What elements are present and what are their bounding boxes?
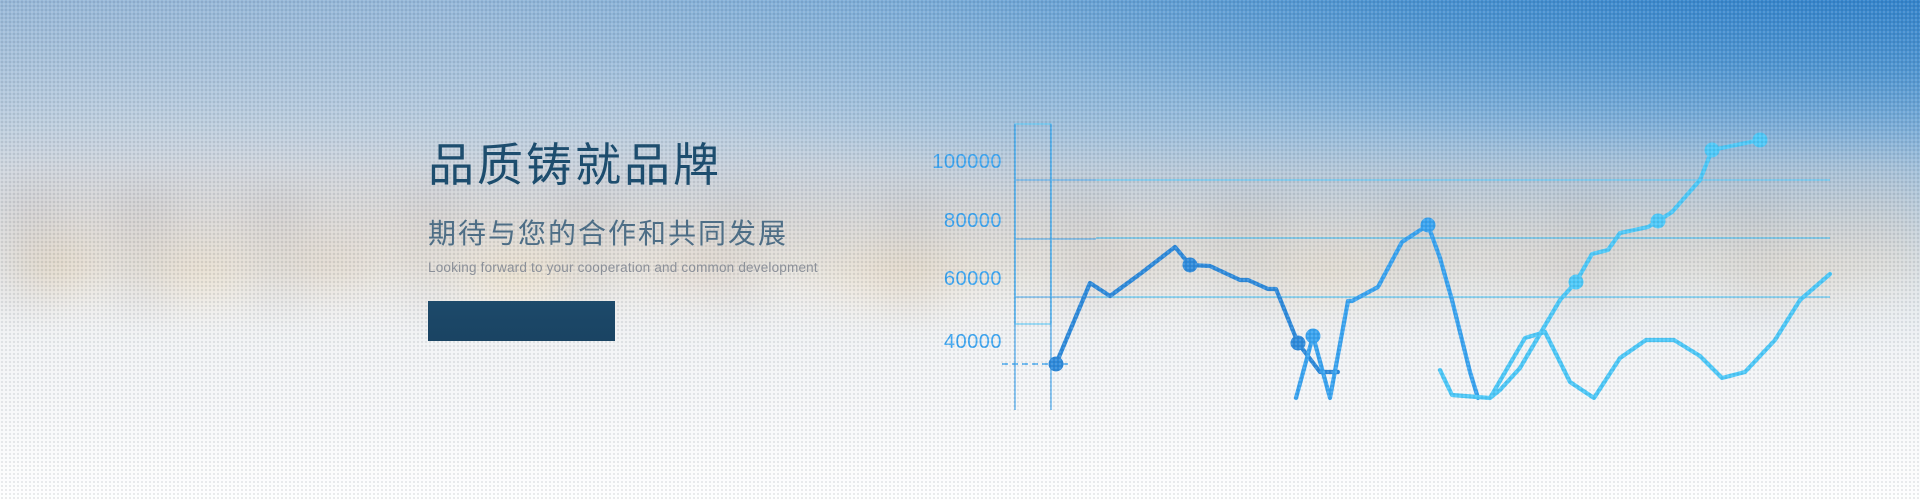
page-title: 品质铸就品牌 — [428, 142, 988, 188]
subtitle-zh: 期待与您的合作和共同发展 — [428, 220, 988, 248]
hero-text-block: 品质铸就品牌 期待与您的合作和共同发展 Looking forward to y… — [428, 142, 988, 341]
hero-banner: 100000800006000040000 品质铸就品牌 期待与您的合作和共同发… — [0, 0, 1920, 500]
subtitle-en: Looking forward to your cooperation and … — [428, 261, 988, 275]
cta-button[interactable] — [428, 301, 615, 341]
